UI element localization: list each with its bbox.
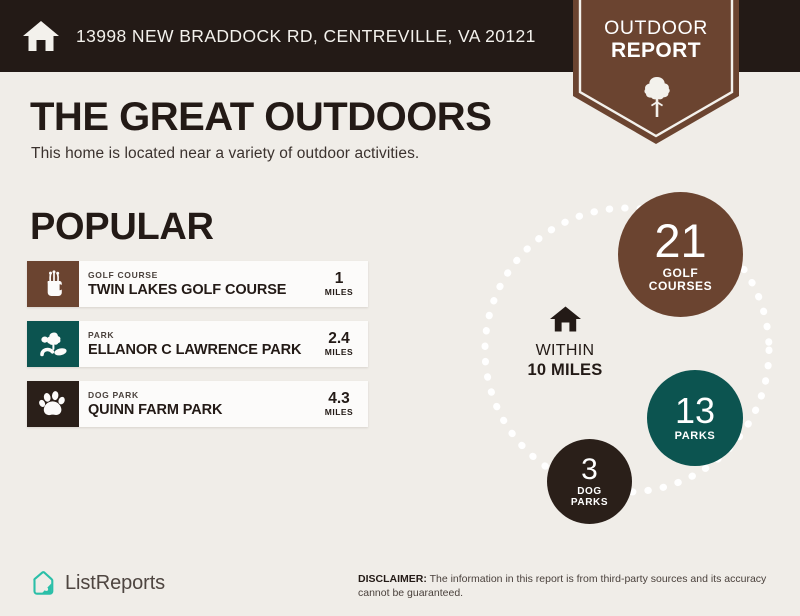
outdoor-report-badge: OUTDOOR REPORT	[573, 0, 739, 144]
disclaimer: DISCLAIMER: The information in this repo…	[358, 573, 782, 600]
list-item-category: PARK	[88, 330, 315, 341]
list-item-category: DOG PARK	[88, 390, 315, 401]
stat-circle-dog-parks[interactable]: 3 DOG PARKS	[547, 439, 632, 524]
list-item-distance-value: 2.4	[328, 330, 350, 347]
tree-icon	[643, 75, 671, 119]
list-item-distance: 4.3 MILES	[315, 381, 368, 427]
list-item[interactable]: PARK ELLANOR C LAWRENCE PARK 2.4 MILES	[27, 321, 368, 367]
list-item-text: DOG PARK QUINN FARM PARK	[79, 381, 315, 427]
stat-value: 3	[581, 455, 598, 485]
home-icon	[549, 305, 582, 333]
list-item-category: GOLF COURSE	[88, 270, 315, 281]
list-item-distance-unit: MILES	[325, 347, 353, 358]
stat-circle-golf-courses[interactable]: 21 GOLF COURSES	[618, 192, 743, 317]
park-tree-icon	[38, 331, 68, 358]
list-item-distance: 2.4 MILES	[315, 321, 368, 367]
page-subtitle: This home is located near a variety of o…	[31, 145, 419, 163]
within-label-line-1: WITHIN	[500, 341, 630, 360]
list-item-name: TWIN LAKES GOLF COURSE	[88, 281, 315, 299]
listreports-logo-text: ListReports	[65, 572, 165, 595]
list-item-text: GOLF COURSE TWIN LAKES GOLF COURSE	[79, 261, 315, 307]
paw-print-icon	[39, 390, 67, 418]
list-item-icon-tile	[27, 321, 79, 367]
stat-label-line-1: GOLF	[663, 267, 699, 280]
stat-label-line-2: PARKS	[571, 498, 608, 509]
list-item-icon-tile	[27, 381, 79, 427]
stat-circle-parks[interactable]: 13 PARKS	[647, 370, 743, 466]
outdoor-report-infographic: 13998 NEW BRADDOCK RD, CENTREVILLE, VA 2…	[0, 0, 800, 616]
within-label-line-2: 10 MILES	[500, 360, 630, 380]
stat-label-line-2: COURSES	[649, 280, 713, 293]
stats-visualization: 21 GOLF COURSES 13 PARKS 3 DOG PARKS WIT…	[455, 160, 800, 560]
list-item-distance-value: 1	[335, 270, 344, 287]
list-item-icon-tile	[27, 261, 79, 307]
within-radius-block: WITHIN 10 MILES	[500, 305, 630, 380]
list-item-distance-unit: MILES	[325, 407, 353, 418]
stat-label-line-1: PARKS	[675, 431, 716, 443]
list-item[interactable]: GOLF COURSE TWIN LAKES GOLF COURSE 1 MIL…	[27, 261, 368, 307]
listreports-logo[interactable]: ListReports	[30, 570, 165, 597]
stat-value: 13	[675, 393, 715, 429]
disclaimer-label: DISCLAIMER:	[358, 573, 427, 585]
list-item-distance-value: 4.3	[328, 390, 350, 407]
popular-section-title: POPULAR	[30, 205, 214, 249]
list-item-text: PARK ELLANOR C LAWRENCE PARK	[79, 321, 315, 367]
listreports-house-icon	[30, 570, 56, 597]
header-address: 13998 NEW BRADDOCK RD, CENTREVILLE, VA 2…	[76, 26, 536, 47]
golf-bag-icon	[40, 270, 67, 298]
list-item-distance-unit: MILES	[325, 287, 353, 298]
stat-label-line-1: DOG	[577, 487, 602, 498]
popular-list: GOLF COURSE TWIN LAKES GOLF COURSE 1 MIL…	[27, 261, 368, 441]
list-item-name: ELLANOR C LAWRENCE PARK	[88, 341, 315, 359]
list-item[interactable]: DOG PARK QUINN FARM PARK 4.3 MILES	[27, 381, 368, 427]
home-icon	[22, 19, 60, 53]
stat-value: 21	[654, 217, 706, 264]
page-title: THE GREAT OUTDOORS	[30, 94, 491, 140]
list-item-name: QUINN FARM PARK	[88, 401, 315, 419]
list-item-distance: 1 MILES	[315, 261, 368, 307]
badge-shield-shape	[573, 0, 739, 144]
